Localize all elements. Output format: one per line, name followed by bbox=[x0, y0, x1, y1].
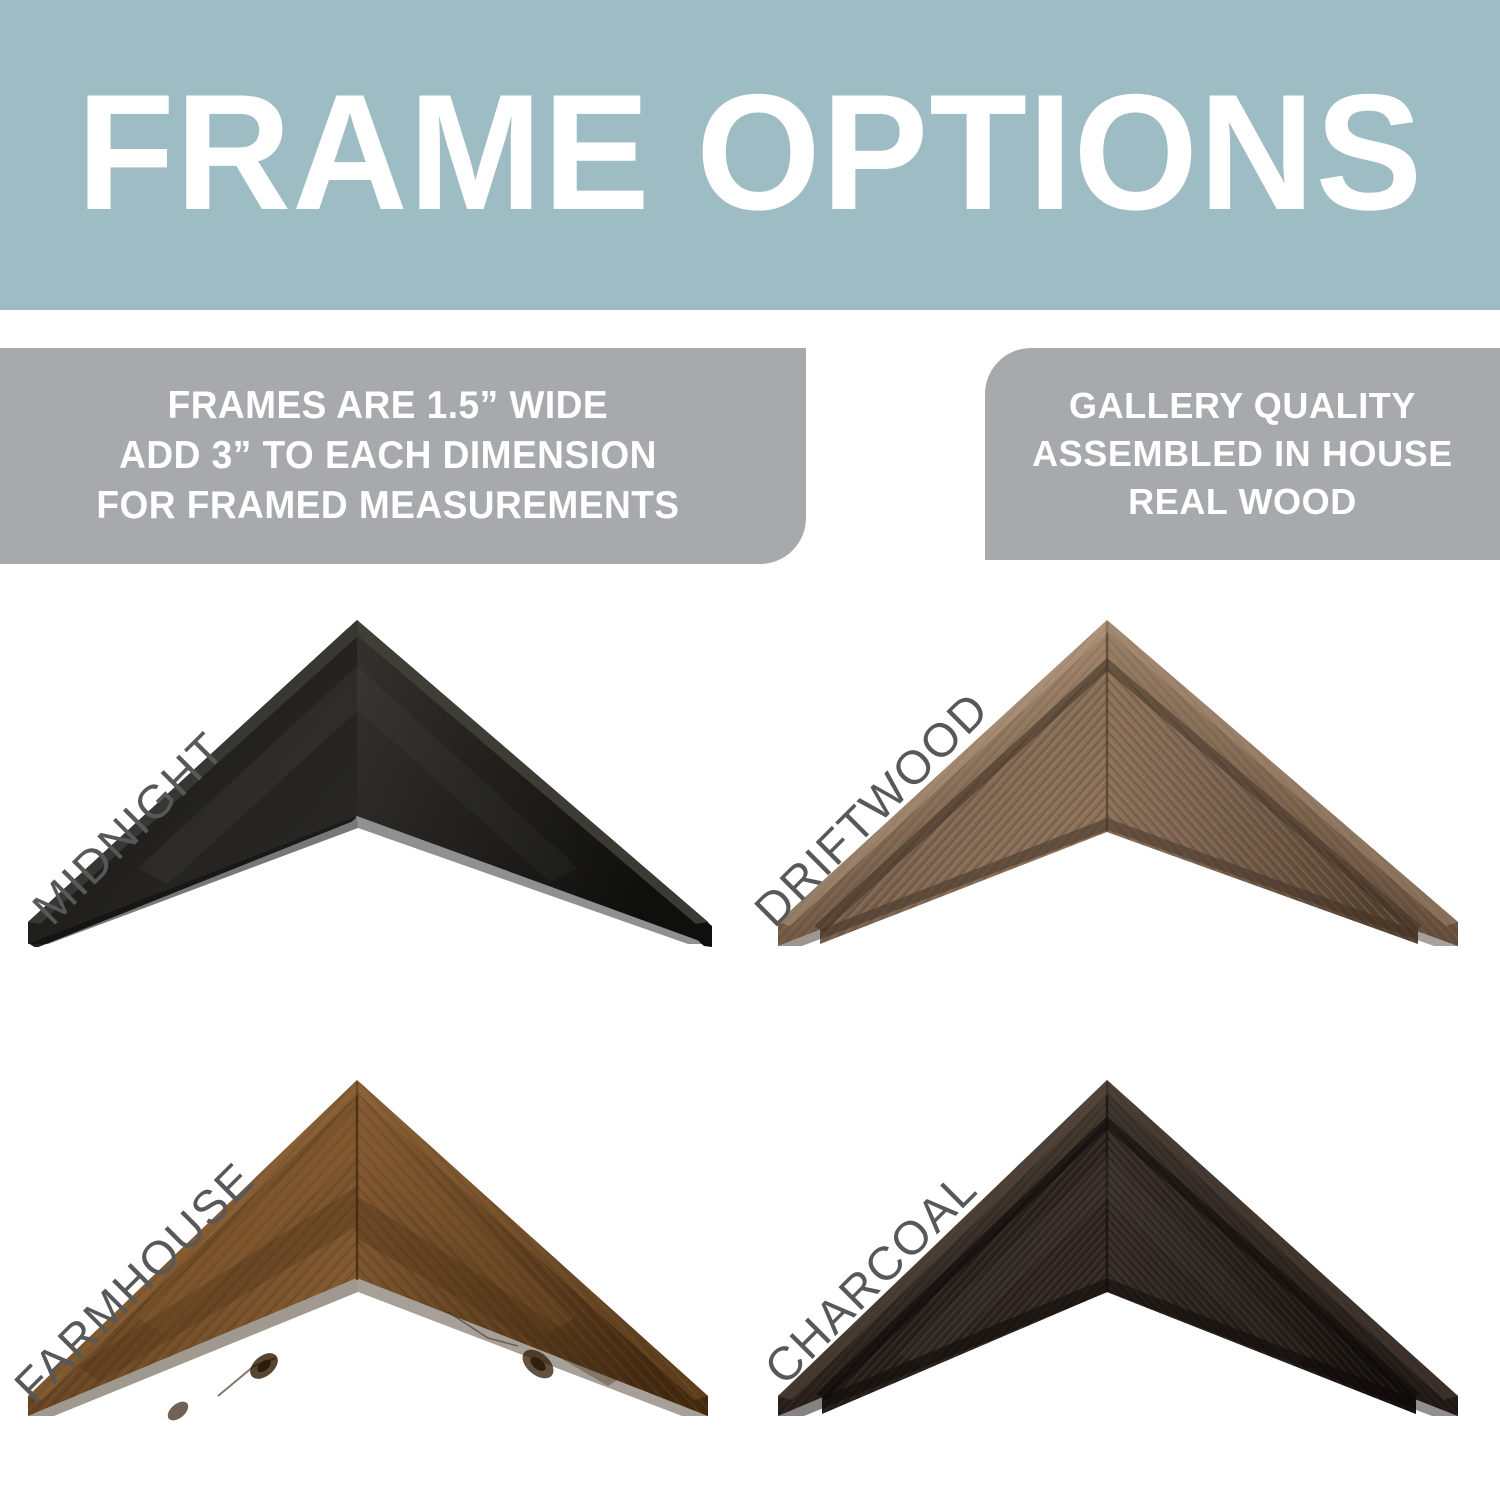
frame-corner-image-farmhouse bbox=[18, 1066, 718, 1456]
info-line: FRAMES ARE 1.5” WIDE bbox=[168, 381, 608, 431]
info-line: FOR FRAMED MEASUREMENTS bbox=[96, 481, 679, 531]
midnight-frame-svg bbox=[18, 606, 718, 996]
info-line: REAL WOOD bbox=[1128, 478, 1357, 526]
farmhouse-frame-svg bbox=[18, 1066, 718, 1456]
frame-swatch-midnight[interactable]: MIDNIGHT bbox=[0, 580, 750, 1040]
frame-swatch-farmhouse[interactable]: FARMHOUSE bbox=[0, 1040, 750, 1500]
frame-corner-image-charcoal bbox=[768, 1066, 1468, 1456]
driftwood-frame-svg bbox=[768, 606, 1468, 996]
frame-swatch-charcoal[interactable]: CHARCOAL bbox=[750, 1040, 1500, 1500]
info-line: ADD 3” TO EACH DIMENSION bbox=[119, 431, 657, 481]
frame-corner-image-driftwood bbox=[768, 606, 1468, 996]
info-line: ASSEMBLED IN HOUSE bbox=[1032, 430, 1453, 478]
frame-swatch-driftwood[interactable]: DRIFTWOOD bbox=[750, 580, 1500, 1040]
info-panel-measurements: FRAMES ARE 1.5” WIDE ADD 3” TO EACH DIME… bbox=[0, 348, 806, 564]
info-line: GALLERY QUALITY bbox=[1069, 382, 1416, 430]
frame-corner-image-midnight bbox=[18, 606, 718, 996]
charcoal-frame-svg bbox=[768, 1066, 1468, 1456]
frame-options-grid: MIDNIGHT bbox=[0, 580, 1500, 1500]
info-panel-quality: GALLERY QUALITY ASSEMBLED IN HOUSE REAL … bbox=[985, 348, 1500, 560]
page-title: FRAME OPTIONS bbox=[77, 70, 1423, 235]
header-banner: FRAME OPTIONS bbox=[0, 0, 1500, 310]
